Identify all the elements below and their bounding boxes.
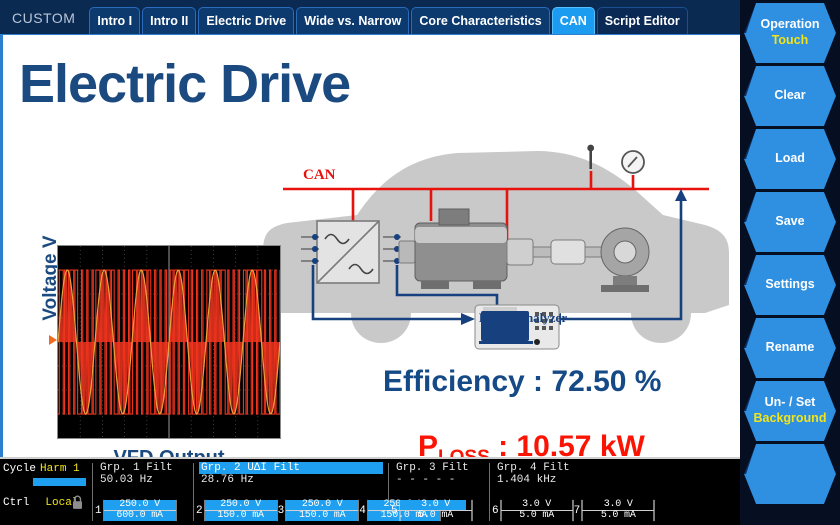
tab-script-editor[interactable]: Script Editor	[597, 7, 688, 34]
channel-number: 6	[492, 505, 500, 517]
status-group-3[interactable]: Grp. 3 Filt- - - - -53.0 V5.0 mA	[391, 459, 487, 525]
instrument-screen: CUSTOM Intro IIntro IIElectric DriveWide…	[0, 0, 840, 525]
softkey-rename[interactable]: Rename	[744, 318, 836, 378]
softkey-label: Rename	[766, 340, 815, 356]
channel-voltage-bar: 250.0 V	[285, 500, 359, 510]
status-divider	[193, 463, 194, 521]
channel-voltage-value: 3.0 V	[581, 500, 655, 510]
page-title: Electric Drive	[19, 57, 350, 111]
channel-current-bar: 5.0 mA	[581, 511, 655, 521]
status-cell-control: Cycle Harm 1 Ctrl Local	[0, 459, 90, 525]
scope-panel: Voltage V VFD Output	[13, 211, 293, 451]
lock-icon[interactable]	[71, 495, 84, 510]
channel-current-bar: 150.0 mA	[204, 511, 278, 521]
softkey-clear[interactable]: Clear	[744, 66, 836, 126]
channel-number: 1	[95, 505, 103, 517]
channel-voltage-bar: 3.0 V	[399, 500, 473, 510]
channel-voltage-bar: 3.0 V	[581, 500, 655, 510]
channel-number: 2	[196, 505, 204, 517]
group-header: Grp. 1 Filt	[98, 462, 189, 474]
channel-voltage-bar: 250.0 V	[204, 500, 278, 510]
ploss-symbol: P	[418, 430, 438, 457]
channel-number: 5	[391, 505, 399, 517]
channel-number: 7	[574, 505, 582, 517]
softkey-border	[744, 444, 836, 504]
channel-voltage-value: 3.0 V	[500, 500, 574, 510]
group-frequency: 1.404 kHz	[495, 474, 640, 486]
softkey-empty-7[interactable]	[744, 444, 836, 504]
ploss-value: : 10.57 kW	[490, 430, 645, 457]
channel-1[interactable]: 1250.0 V600.0 mA	[95, 499, 177, 522]
status-group-4[interactable]: Grp. 4 Filt1.404 kHz63.0 V5.0 mA73.0 V5.…	[492, 459, 642, 525]
group-header: Grp. 3 Filt	[394, 462, 485, 474]
channel-voltage-value: 250.0 V	[204, 500, 278, 510]
channel-current-value: 600.0 mA	[103, 511, 177, 521]
status-group-1[interactable]: Grp. 1 Filt50.03 Hz1250.0 V600.0 mA	[95, 459, 191, 525]
channel-voltage-value: 3.0 V	[399, 500, 473, 510]
efficiency-readout: Efficiency : 72.50 %	[383, 365, 661, 399]
tab-electric-drive[interactable]: Electric Drive	[198, 7, 294, 34]
status-divider	[489, 463, 490, 521]
softkey-label: Save	[775, 214, 804, 230]
channel-current-bar: 150.0 mA	[285, 511, 359, 521]
channel-5[interactable]: 53.0 V5.0 mA	[391, 499, 473, 522]
channel-voltage-value: 250.0 V	[103, 500, 177, 510]
power-analyzer-label: Power Analyzer	[463, 310, 583, 326]
harmonic-bar	[33, 478, 86, 486]
softkey-label: Un- / Set	[765, 395, 816, 411]
status-group-2[interactable]: Grp. 2 UΔI Filt28.76 Hz2250.0 V150.0 mA3…	[196, 459, 386, 525]
channel-current-value: 150.0 mA	[285, 511, 359, 521]
cycle-label: Cycle	[3, 463, 36, 475]
tab-intro-ii[interactable]: Intro II	[142, 7, 196, 34]
content-area: Electric Drive CAN	[0, 34, 740, 457]
softkey-label: Operation	[760, 17, 819, 33]
trigger-marker-icon	[49, 335, 57, 345]
group-header: Grp. 2 UΔI Filt	[199, 462, 383, 474]
softkey-load[interactable]: Load	[744, 129, 836, 189]
scope-caption: VFD Output	[57, 447, 281, 457]
tab-intro-i[interactable]: Intro I	[89, 7, 140, 34]
channel-current-value: 5.0 mA	[399, 511, 473, 521]
softkey-operation[interactable]: OperationTouch	[744, 3, 836, 63]
channel-voltage-bar: 250.0 V	[103, 500, 177, 510]
group-frequency: 50.03 Hz	[98, 474, 189, 486]
softkey-sublabel: Touch	[772, 33, 809, 49]
status-divider	[92, 463, 93, 521]
tab-bar: CUSTOM Intro IIntro IIElectric DriveWide…	[0, 0, 740, 34]
group-header: Grp. 4 Filt	[495, 462, 640, 474]
inverter-icon	[317, 221, 379, 283]
status-bar: Cycle Harm 1 Ctrl Local Grp. 1 Filt50.03…	[0, 457, 740, 525]
channel-3[interactable]: 3250.0 V150.0 mA	[278, 499, 360, 522]
softkey-label: Settings	[765, 277, 814, 293]
custom-label: CUSTOM	[4, 10, 87, 34]
softkey-label: Load	[775, 151, 805, 167]
channel-current-bar: 5.0 mA	[500, 511, 574, 521]
softkey-save[interactable]: Save	[744, 192, 836, 252]
channel-number: 3	[278, 505, 286, 517]
channel-current-value: 5.0 mA	[500, 511, 574, 521]
tab-can[interactable]: CAN	[552, 7, 595, 34]
channel-7[interactable]: 73.0 V5.0 mA	[574, 499, 656, 522]
waveform-plot[interactable]	[57, 245, 281, 439]
tab-core-characteristics[interactable]: Core Characteristics	[411, 7, 549, 34]
softkey-settings[interactable]: Settings	[744, 255, 836, 315]
channel-current-value: 150.0 mA	[204, 511, 278, 521]
soft-key-sidebar: OperationTouchClearLoadSaveSettingsRenam…	[740, 0, 840, 525]
channel-6[interactable]: 63.0 V5.0 mA	[492, 499, 574, 522]
group-frequency: - - - - -	[394, 474, 485, 486]
channel-2[interactable]: 2250.0 V150.0 mA	[196, 499, 278, 522]
channel-number: 4	[359, 505, 367, 517]
softkey-un-set[interactable]: Un- / SetBackground	[744, 381, 836, 441]
power-loss-readout: PLOSS : 10.57 kW	[418, 430, 645, 457]
cycle-value[interactable]: Harm 1	[40, 463, 80, 475]
channel-voltage-bar: 3.0 V	[500, 500, 574, 510]
softkey-sublabel: Background	[754, 411, 827, 427]
channel-current-value: 5.0 mA	[581, 511, 655, 521]
gauge-icon	[622, 151, 644, 173]
softkey-label: Clear	[774, 88, 805, 104]
tab-wide-vs-narrow[interactable]: Wide vs. Narrow	[296, 7, 409, 34]
channel-current-bar: 5.0 mA	[399, 511, 473, 521]
can-label: CAN	[303, 167, 336, 183]
channel-current-bar: 600.0 mA	[103, 511, 177, 521]
ctrl-label: Ctrl	[3, 497, 29, 509]
group-frequency: 28.76 Hz	[199, 474, 384, 486]
ploss-subscript: LOSS	[438, 447, 490, 457]
channel-voltage-value: 250.0 V	[285, 500, 359, 510]
